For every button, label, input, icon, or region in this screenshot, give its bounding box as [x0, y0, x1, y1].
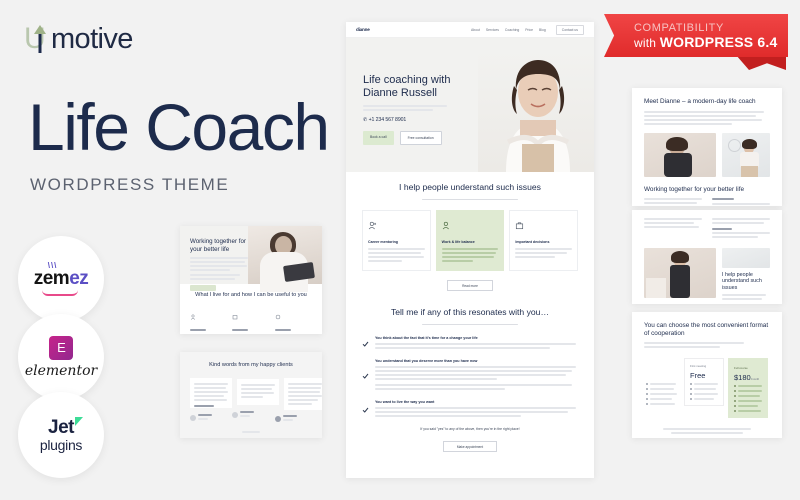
nav-item-services[interactable]: Services	[486, 28, 499, 32]
checklist-title: You understand that you deserve more tha…	[375, 359, 578, 363]
mini-hero-lines	[190, 257, 252, 280]
meet-body: Meet Dianne – a modern-day life coach	[632, 88, 782, 206]
help-section: I help people understand such issues Car…	[346, 172, 594, 301]
ribbon-tail	[736, 55, 786, 70]
zemez-accent: ez	[69, 268, 88, 289]
nav-contact-button[interactable]: Contact us	[556, 25, 584, 35]
zemez-logo: \\\ zemez	[34, 268, 89, 290]
preview-kind-words[interactable]: Kind words from my happy clients	[180, 352, 322, 438]
elementor-icon: E	[49, 336, 73, 360]
mini-hero-heading: Working together for your better life	[190, 238, 252, 253]
plan-label: First meeting	[690, 364, 718, 368]
help-card-decisions[interactable]: Important decisions	[509, 210, 578, 271]
logo-wordmark: motive	[51, 24, 133, 54]
testimonial-card	[284, 378, 322, 410]
hero-phone-number: +1 234 567 8901	[369, 117, 407, 123]
preview-pricing[interactable]: You can choose the most convenient forma…	[632, 312, 782, 438]
mini-hero-text: Working together for your better life	[190, 238, 252, 291]
site-logo[interactable]: dianne	[356, 27, 370, 32]
hero-subtext	[363, 105, 455, 111]
plan-price-value: $180	[734, 373, 751, 382]
service-icon	[190, 314, 196, 320]
testimonial-avatars	[190, 413, 312, 423]
meet-paragraph	[644, 111, 770, 125]
pricing-feature-labels	[646, 358, 680, 405]
elementor-label: elementor	[25, 363, 97, 379]
help-card-career[interactable]: Career mentoring	[362, 210, 431, 271]
service-icon	[232, 314, 238, 320]
help-preview-image	[644, 248, 716, 298]
help-preview-thumb	[722, 248, 770, 268]
jet-triangle-icon	[75, 417, 83, 426]
preview-meet-dianne[interactable]: Meet Dianne – a modern-day life coach	[632, 88, 782, 206]
help-subtext	[362, 199, 578, 201]
help-card-title: Work & life balance	[442, 240, 499, 244]
badge-jetplugins: Jet plugins	[18, 392, 104, 478]
checklist-item: You want to live the way you want	[362, 400, 578, 419]
zemez-ticks: \\\	[48, 261, 58, 270]
nav-item-blog[interactable]: Blog	[539, 28, 546, 32]
plan-price: Free	[690, 371, 718, 380]
phone-icon: ✆	[363, 117, 367, 123]
mini-service-cell	[190, 307, 227, 334]
nav-item-coaching[interactable]: Coaching	[505, 28, 519, 32]
badge-elementor: E elementor	[18, 314, 104, 400]
hero-primary-button[interactable]: Book a call	[363, 131, 394, 145]
pricing-body: You can choose the most convenient forma…	[632, 312, 782, 438]
checklist-title: You think about the fact that it's time …	[375, 336, 578, 340]
page-title: Life Coach	[28, 92, 329, 162]
hero-buttons: Book a call Free consultation	[363, 131, 455, 145]
resonate-closing: If you said "yes" to any of the above, t…	[362, 427, 578, 431]
hero-heading: Life coaching with Dianne Russell	[363, 74, 455, 100]
pricing-plan-free[interactable]: First meeting Free	[684, 358, 724, 406]
preview-help-understand[interactable]: I help people understand such issues	[632, 210, 782, 304]
nav-item-about[interactable]: About	[471, 28, 480, 32]
carousel-dots[interactable]	[242, 431, 260, 433]
mini-service-cell	[232, 307, 269, 334]
hero-portrait	[478, 48, 594, 172]
jet-text: Jet	[48, 417, 74, 438]
checklist-item: You think about the fact that it's time …	[362, 336, 578, 351]
zemez-text: zem	[34, 268, 69, 289]
service-icon	[275, 314, 281, 320]
check-icon	[362, 401, 369, 419]
make-appointment-button[interactable]: Make appointment	[443, 441, 497, 452]
resonate-heading: Tell me if any of this resonates with yo…	[362, 307, 578, 318]
testimonial-card	[237, 379, 279, 405]
mini-hero-button[interactable]	[190, 285, 216, 291]
help-preview-lists	[644, 218, 770, 240]
zemez-smile	[42, 290, 79, 296]
help-cards: Career mentoring Work & life balance	[362, 210, 578, 271]
pricing-plan-full[interactable]: Full course $180/month	[728, 358, 768, 418]
plugins-label: plugins	[40, 437, 82, 453]
nav-menu: About Services Coaching Price Blog Conta…	[471, 25, 584, 35]
hero-content: Life coaching with Dianne Russell ✆ +1 2…	[363, 74, 455, 145]
nav-item-price[interactable]: Price	[525, 28, 533, 32]
checklist-title: You want to live the way you want	[375, 400, 578, 404]
page-subtitle: WORDPRESS THEME	[30, 175, 229, 195]
brand-logo: U motive	[24, 24, 133, 54]
ribbon-version: WORDPRESS 6.4	[660, 34, 778, 50]
pricing-footnote	[663, 428, 751, 434]
resonate-checklist: You think about the fact that it's time …	[362, 336, 578, 419]
plan-price: $180/month	[734, 373, 762, 382]
elementor-mark: E	[57, 341, 65, 354]
mini-testimonials-heading: Kind words from my happy clients	[190, 362, 312, 369]
badge-zemez: \\\ zemez	[18, 236, 104, 322]
mini-service-cell	[275, 307, 312, 334]
plan-label: Full course	[734, 366, 762, 370]
help-preview-heading: I help people understand such issues	[722, 272, 770, 291]
checklist-item: You understand that you deserve more tha…	[362, 359, 578, 392]
resonate-section: Tell me if any of this resonates with yo…	[346, 301, 594, 462]
help-card-title: Career mentoring	[368, 240, 425, 244]
up-arrow-icon	[33, 24, 47, 54]
badge-stack: \\\ zemez E elementor Jet plugins	[18, 236, 104, 470]
compatibility-ribbon: COMPATIBILITY with WORDPRESS 6.4	[604, 14, 788, 57]
pricing-plans: First meeting Free Full course $180/mont…	[644, 358, 770, 418]
briefcase-icon	[515, 221, 524, 230]
help-preview-card: I help people understand such issues	[722, 248, 770, 304]
user-check-icon	[442, 221, 451, 230]
help-card-title: Important decisions	[515, 240, 572, 244]
meet-heading-bottom: Working together for your better life	[644, 186, 770, 194]
plan-price-unit: /month	[751, 377, 760, 381]
meet-images	[644, 133, 770, 177]
mini-testimonials: Kind words from my happy clients	[180, 352, 322, 438]
hero-section: Life coaching with Dianne Russell ✆ +1 2…	[346, 38, 594, 172]
meet-two-col	[644, 198, 770, 206]
preview-main-homepage[interactable]: dianne About Services Coaching Price Blo…	[346, 22, 594, 478]
site-navbar: dianne About Services Coaching Price Blo…	[346, 22, 594, 38]
hero-phone[interactable]: ✆ +1 234 567 8901	[363, 117, 455, 123]
hero-secondary-button[interactable]: Free consultation	[400, 131, 442, 145]
help-card-balance[interactable]: Work & life balance	[436, 210, 505, 271]
logo-mark: U	[24, 24, 50, 54]
help-preview-body: I help people understand such issues	[632, 210, 782, 304]
meet-heading: Meet Dianne – a modern-day life coach	[644, 98, 770, 106]
pricing-heading: You can choose the most convenient forma…	[644, 322, 770, 337]
mini-services-heading: What I live for and how I can be useful …	[190, 292, 312, 299]
mini-services-grid	[190, 307, 312, 334]
help-preview-media: I help people understand such issues	[644, 248, 770, 304]
ribbon-prefix: with	[634, 36, 660, 50]
user-plus-icon	[368, 221, 377, 230]
meet-image-right	[722, 133, 770, 177]
ribbon-text: COMPATIBILITY with WORDPRESS 6.4	[634, 22, 777, 51]
ribbon-line2: with WORDPRESS 6.4	[634, 35, 777, 51]
check-icon	[362, 360, 369, 392]
help-readmore-button[interactable]: Read more	[447, 280, 493, 291]
jet-label: Jet	[48, 417, 74, 439]
preview-working-together[interactable]: Working together for your better life Wh…	[180, 226, 322, 334]
mini-hero: Working together for your better life	[180, 226, 322, 284]
mini-hero-photo	[248, 226, 322, 284]
poster-canvas: U motive Life Coach WORDPRESS THEME \\\ …	[0, 0, 800, 500]
help-heading: I help people understand such issues	[362, 182, 578, 193]
meet-image-left	[644, 133, 716, 177]
check-icon	[362, 337, 369, 351]
testimonial-card	[190, 378, 232, 408]
testimonial-row	[190, 378, 312, 410]
